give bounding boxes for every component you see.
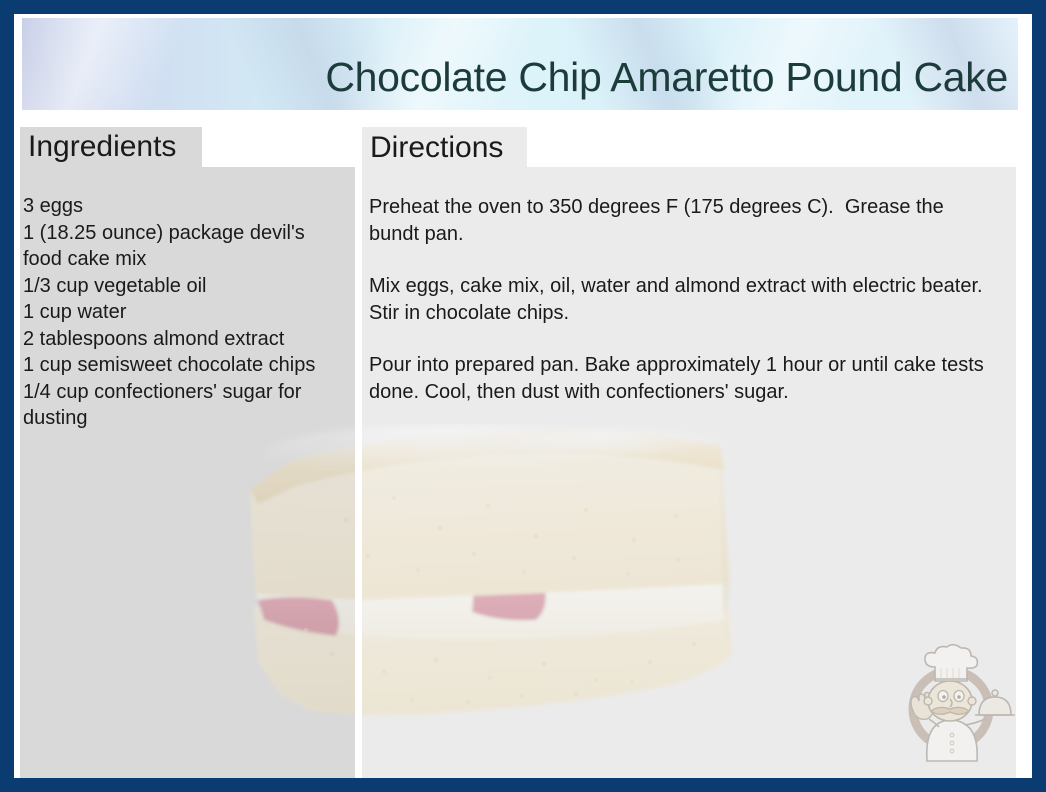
directions-steps: Preheat the oven to 350 degrees F (175 d… xyxy=(369,194,991,431)
list-item: 1/3 cup vegetable oil xyxy=(23,273,345,300)
recipe-slide: Chocolate Chip Amaretto Pound Cake xyxy=(0,0,1046,792)
page-title: Chocolate Chip Amaretto Pound Cake xyxy=(325,57,1008,98)
ingredients-tab: Ingredients xyxy=(20,127,202,167)
slide-border-left xyxy=(0,0,14,792)
list-item: 1/4 cup confectioners' sugar for dusting xyxy=(23,379,345,432)
chef-with-cloche-logo xyxy=(893,643,1015,763)
ingredients-list: 3 eggs 1 (18.25 ounce) package devil's f… xyxy=(23,193,345,432)
list-item: 2 tablespoons almond extract xyxy=(23,326,345,353)
list-item: 1 cup semisweet chocolate chips xyxy=(23,352,345,379)
direction-step: Pour into prepared pan. Bake approximate… xyxy=(369,352,991,405)
directions-tab: Directions xyxy=(362,127,527,167)
list-item: 1 cup water xyxy=(23,299,345,326)
slide-border-top xyxy=(0,0,1046,14)
slide-border-bottom xyxy=(0,778,1046,792)
sponge-cake-slice-photo xyxy=(236,424,752,758)
ingredients-heading: Ingredients xyxy=(28,128,176,166)
panel-divider xyxy=(355,167,362,780)
title-banner: Chocolate Chip Amaretto Pound Cake xyxy=(22,18,1018,110)
direction-step: Mix eggs, cake mix, oil, water and almon… xyxy=(369,273,991,326)
slide-border-right xyxy=(1032,0,1046,792)
direction-step: Preheat the oven to 350 degrees F (175 d… xyxy=(369,194,991,247)
list-item: 3 eggs xyxy=(23,193,345,220)
list-item: 1 (18.25 ounce) package devil's food cak… xyxy=(23,220,345,273)
directions-heading: Directions xyxy=(370,129,503,167)
